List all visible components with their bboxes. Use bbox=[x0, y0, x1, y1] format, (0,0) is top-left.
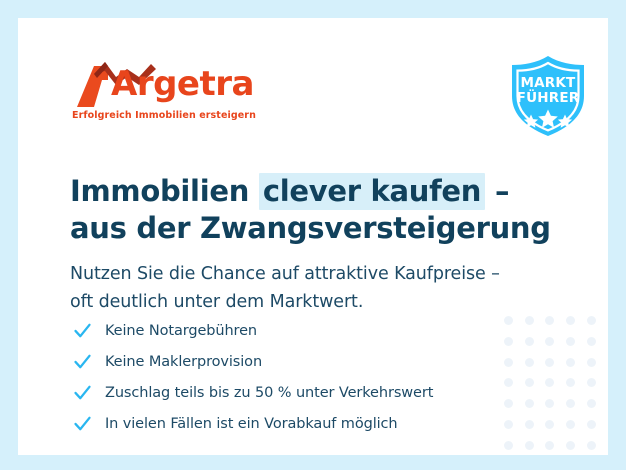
logo-tagline: Erfolgreich Immobilien ersteigern bbox=[72, 110, 332, 121]
dot bbox=[566, 358, 575, 367]
dot bbox=[566, 378, 575, 387]
subheadline: Nutzen Sie die Chance auf attraktive Kau… bbox=[70, 260, 590, 316]
benefit-label: Zuschlag teils bis zu 50 % unter Verkehr… bbox=[105, 385, 433, 401]
page-title: Immobilien clever kaufen – aus der Zwang… bbox=[70, 173, 570, 247]
dot bbox=[545, 316, 554, 325]
check-icon bbox=[72, 320, 93, 341]
dot bbox=[545, 358, 554, 367]
headline-line-1-before: Immobilien bbox=[70, 174, 259, 208]
check-icon bbox=[72, 413, 93, 434]
logo-wordmark: Argetra bbox=[111, 62, 254, 106]
shield-badge-icon bbox=[505, 54, 591, 138]
benefit-label: Keine Notargebühren bbox=[105, 323, 257, 339]
list-item: Keine Notargebühren bbox=[72, 315, 542, 346]
dot bbox=[566, 441, 575, 450]
headline-highlight: clever kaufen bbox=[259, 173, 485, 210]
dot bbox=[545, 399, 554, 408]
dot bbox=[525, 441, 534, 450]
argetra-logo[interactable]: Argetra Erfolgreich Immobilien ersteiger… bbox=[72, 60, 332, 121]
dot bbox=[587, 358, 596, 367]
headline-line-1: Immobilien clever kaufen – bbox=[70, 173, 570, 210]
subheadline-line-2: oft deutlich unter dem Marktwert. bbox=[70, 288, 590, 316]
headline-line-1-after: – bbox=[485, 174, 509, 208]
dot bbox=[566, 420, 575, 429]
dot bbox=[587, 441, 596, 450]
benefit-label: Keine Maklerprovision bbox=[105, 354, 262, 370]
markt-fuehrer-badge: MARKT FÜHRER bbox=[505, 54, 591, 138]
headline-line-2: aus der Zwangsversteigerung bbox=[70, 210, 570, 247]
dot bbox=[587, 316, 596, 325]
list-item: In vielen Fällen ist ein Vorabkauf mögli… bbox=[72, 408, 542, 439]
promo-card: Argetra Erfolgreich Immobilien ersteiger… bbox=[18, 18, 608, 455]
check-icon bbox=[72, 351, 93, 372]
list-item: Keine Maklerprovision bbox=[72, 346, 542, 377]
promo-banner: Argetra Erfolgreich Immobilien ersteiger… bbox=[0, 0, 626, 470]
logo-mark-row: Argetra bbox=[72, 60, 332, 108]
benefit-label: In vielen Fällen ist ein Vorabkauf mögli… bbox=[105, 416, 398, 432]
dot bbox=[545, 337, 554, 346]
dot bbox=[545, 378, 554, 387]
check-icon bbox=[72, 382, 93, 403]
dot bbox=[587, 378, 596, 387]
benefits-list: Keine Notargebühren Keine Maklerprovisio… bbox=[72, 315, 542, 439]
dot bbox=[545, 420, 554, 429]
dot bbox=[587, 399, 596, 408]
dot bbox=[566, 399, 575, 408]
subheadline-line-1: Nutzen Sie die Chance auf attraktive Kau… bbox=[70, 260, 590, 288]
dot bbox=[566, 337, 575, 346]
dot bbox=[545, 441, 554, 450]
dot bbox=[587, 337, 596, 346]
dot bbox=[566, 316, 575, 325]
dot bbox=[587, 420, 596, 429]
list-item: Zuschlag teils bis zu 50 % unter Verkehr… bbox=[72, 377, 542, 408]
dot bbox=[504, 441, 513, 450]
